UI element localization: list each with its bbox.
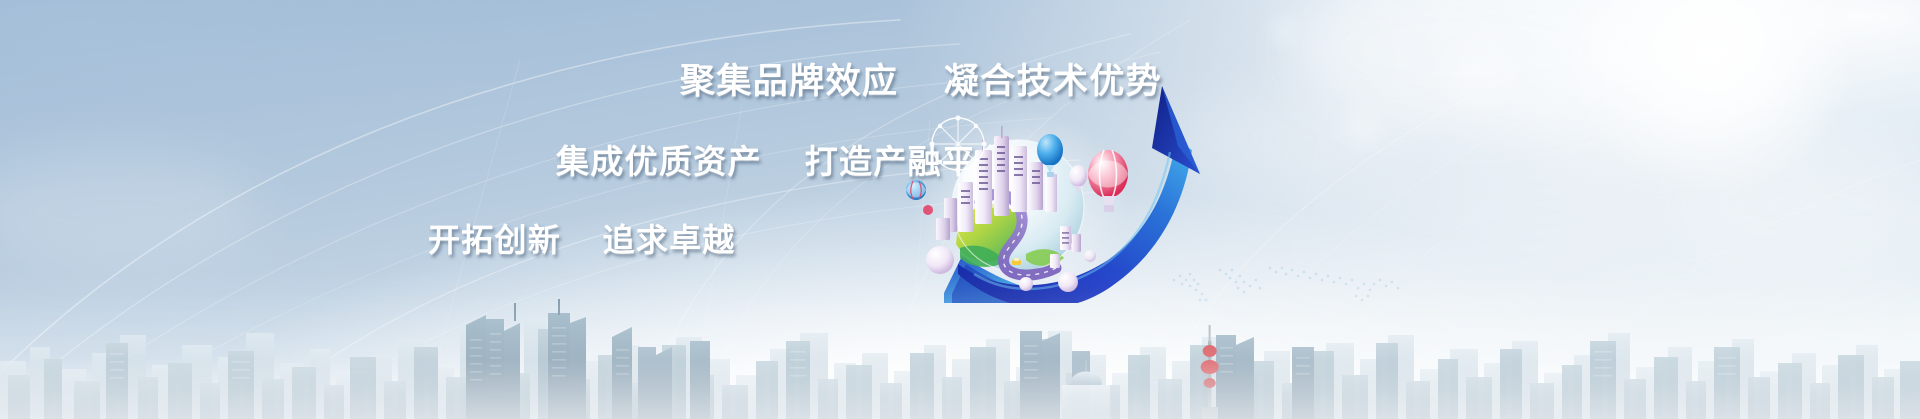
balloon-red-dot: [923, 205, 933, 215]
headline-1-left: 聚集品牌效应: [680, 62, 898, 102]
city-skyline: [0, 289, 1920, 419]
balloon-patterned-small: [906, 180, 926, 200]
headline-3-right: 追求卓越: [603, 221, 736, 259]
hero-banner: 聚集品牌效应 凝合技术优势 集成优质资产 打造产融平台 开拓创新 追求卓越: [0, 0, 1920, 419]
headline-3-left: 开拓创新: [428, 221, 561, 259]
headline-2-left: 集成优质资产: [556, 142, 762, 181]
headline-3: 开拓创新 追求卓越: [428, 215, 736, 261]
pearl-sphere-4: [1084, 250, 1096, 262]
globe-and-arrow-graphic: [900, 78, 1220, 303]
pearl-sphere-1: [926, 246, 954, 274]
